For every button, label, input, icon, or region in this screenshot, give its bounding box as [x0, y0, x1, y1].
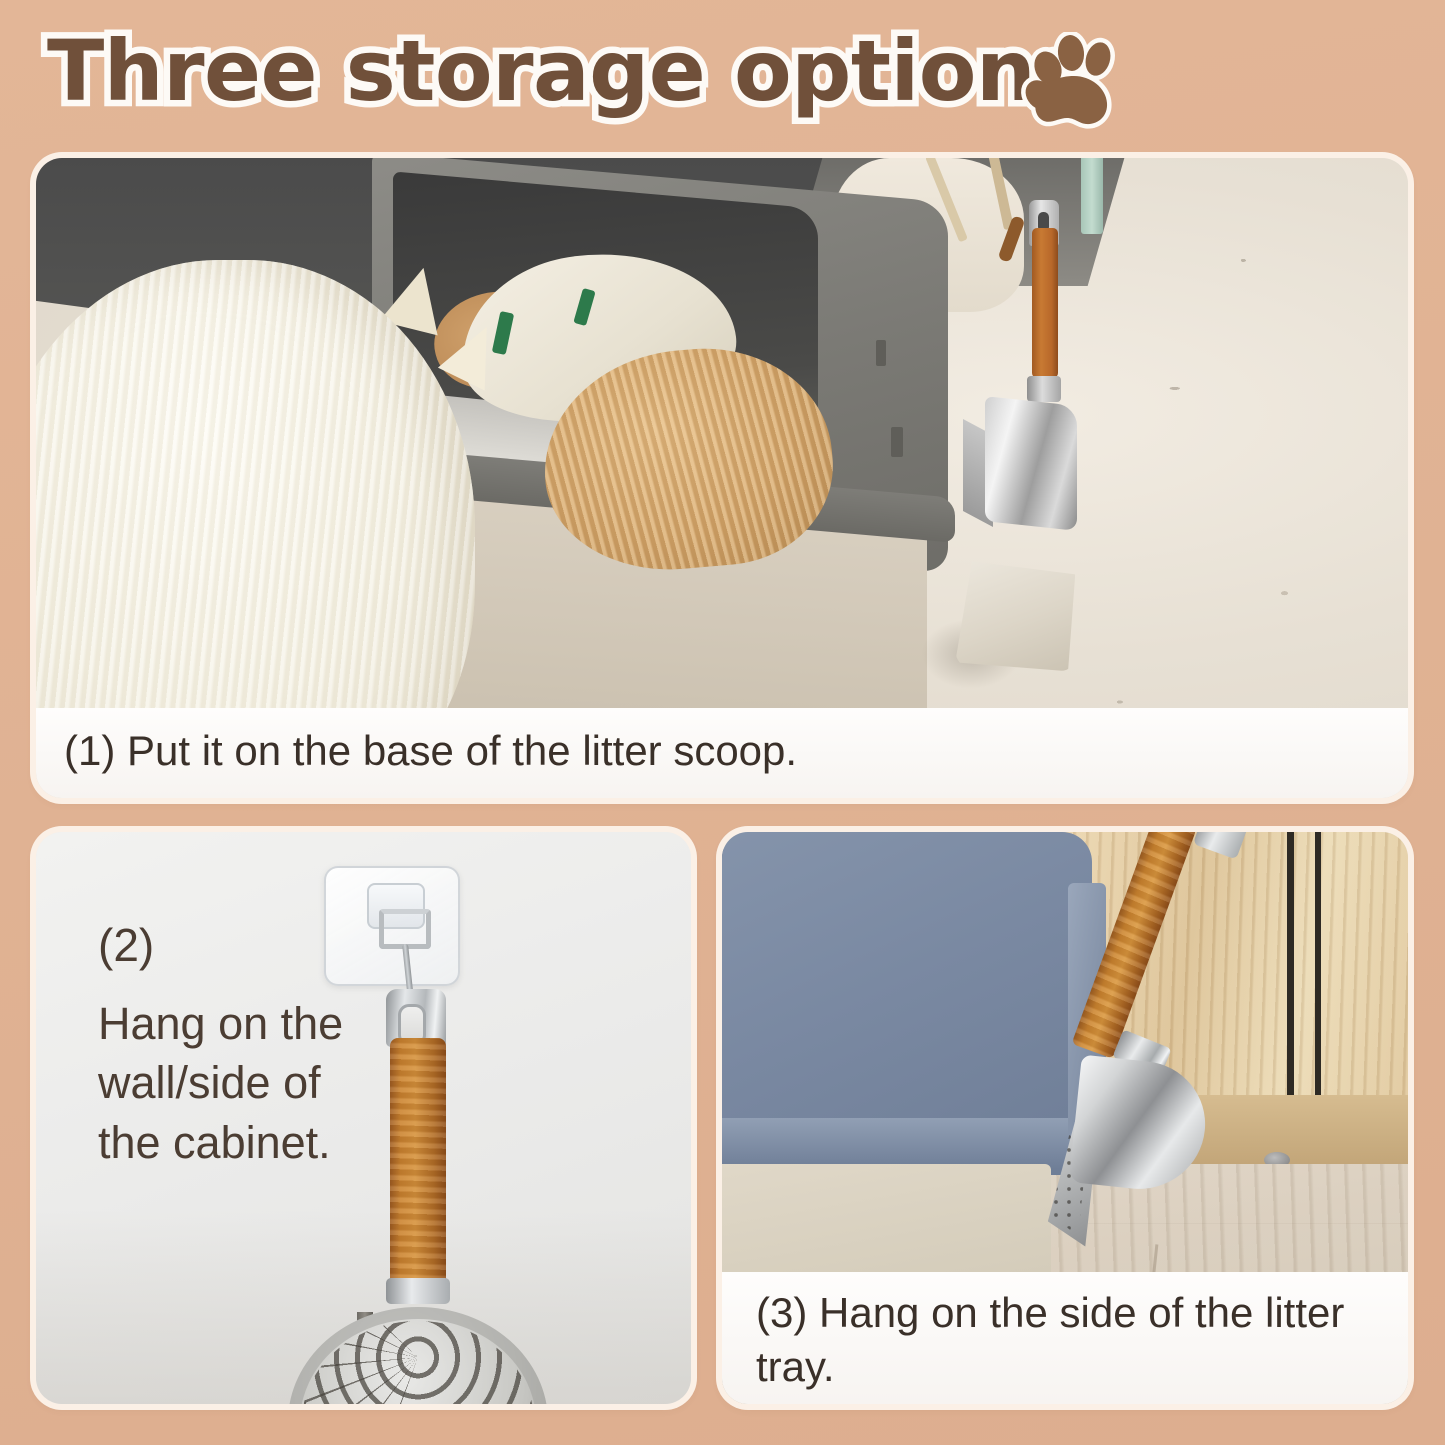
- litter-box-hinge: [876, 340, 886, 366]
- storage-option-panel-1: (1) Put it on the base of the litter sco…: [36, 158, 1408, 798]
- scoop-ferrule: [1027, 376, 1061, 402]
- panel-1-caption-bar: (1) Put it on the base of the litter sco…: [36, 708, 1408, 798]
- scoop-storage-base: [955, 561, 1075, 671]
- panel-2-caption-text: Hang on the wall/side of the cabinet.: [98, 994, 368, 1172]
- header: Three storage options: [0, 0, 1445, 150]
- scoop-slot-grid: [302, 1321, 534, 1404]
- storage-option-panel-2: (2) Hang on the wall/side of the cabinet…: [36, 832, 691, 1404]
- cabinet-seam: [1287, 832, 1294, 1107]
- panel-3-caption-bar: (3) Hang on the side of the litter tray.: [722, 1272, 1408, 1404]
- background-pole: [1081, 158, 1103, 234]
- panel-2-number: (2): [98, 918, 154, 972]
- panel-3-caption-text: (3) Hang on the side of the litter tray.: [756, 1286, 1408, 1394]
- scoop-bowl: [985, 396, 1077, 531]
- panel-1-caption-text: (1) Put it on the base of the litter sco…: [64, 724, 1408, 778]
- cabinet-seam: [1315, 832, 1321, 1107]
- storage-option-panel-3: (3) Hang on the side of the litter tray.: [722, 832, 1408, 1404]
- scoop-wooden-handle: [390, 1038, 446, 1290]
- litter-tray-lip: [722, 1118, 1092, 1169]
- scoop-ferrule: [386, 1278, 450, 1304]
- infographic-page: Three storage options: [0, 0, 1445, 1445]
- page-title: Three storage options: [47, 22, 1085, 120]
- litter-box-hinge: [891, 427, 903, 457]
- panel-1-photo: [36, 158, 1408, 798]
- paw-print-icon: [1018, 32, 1130, 132]
- scoop-wooden-handle: [1032, 228, 1058, 378]
